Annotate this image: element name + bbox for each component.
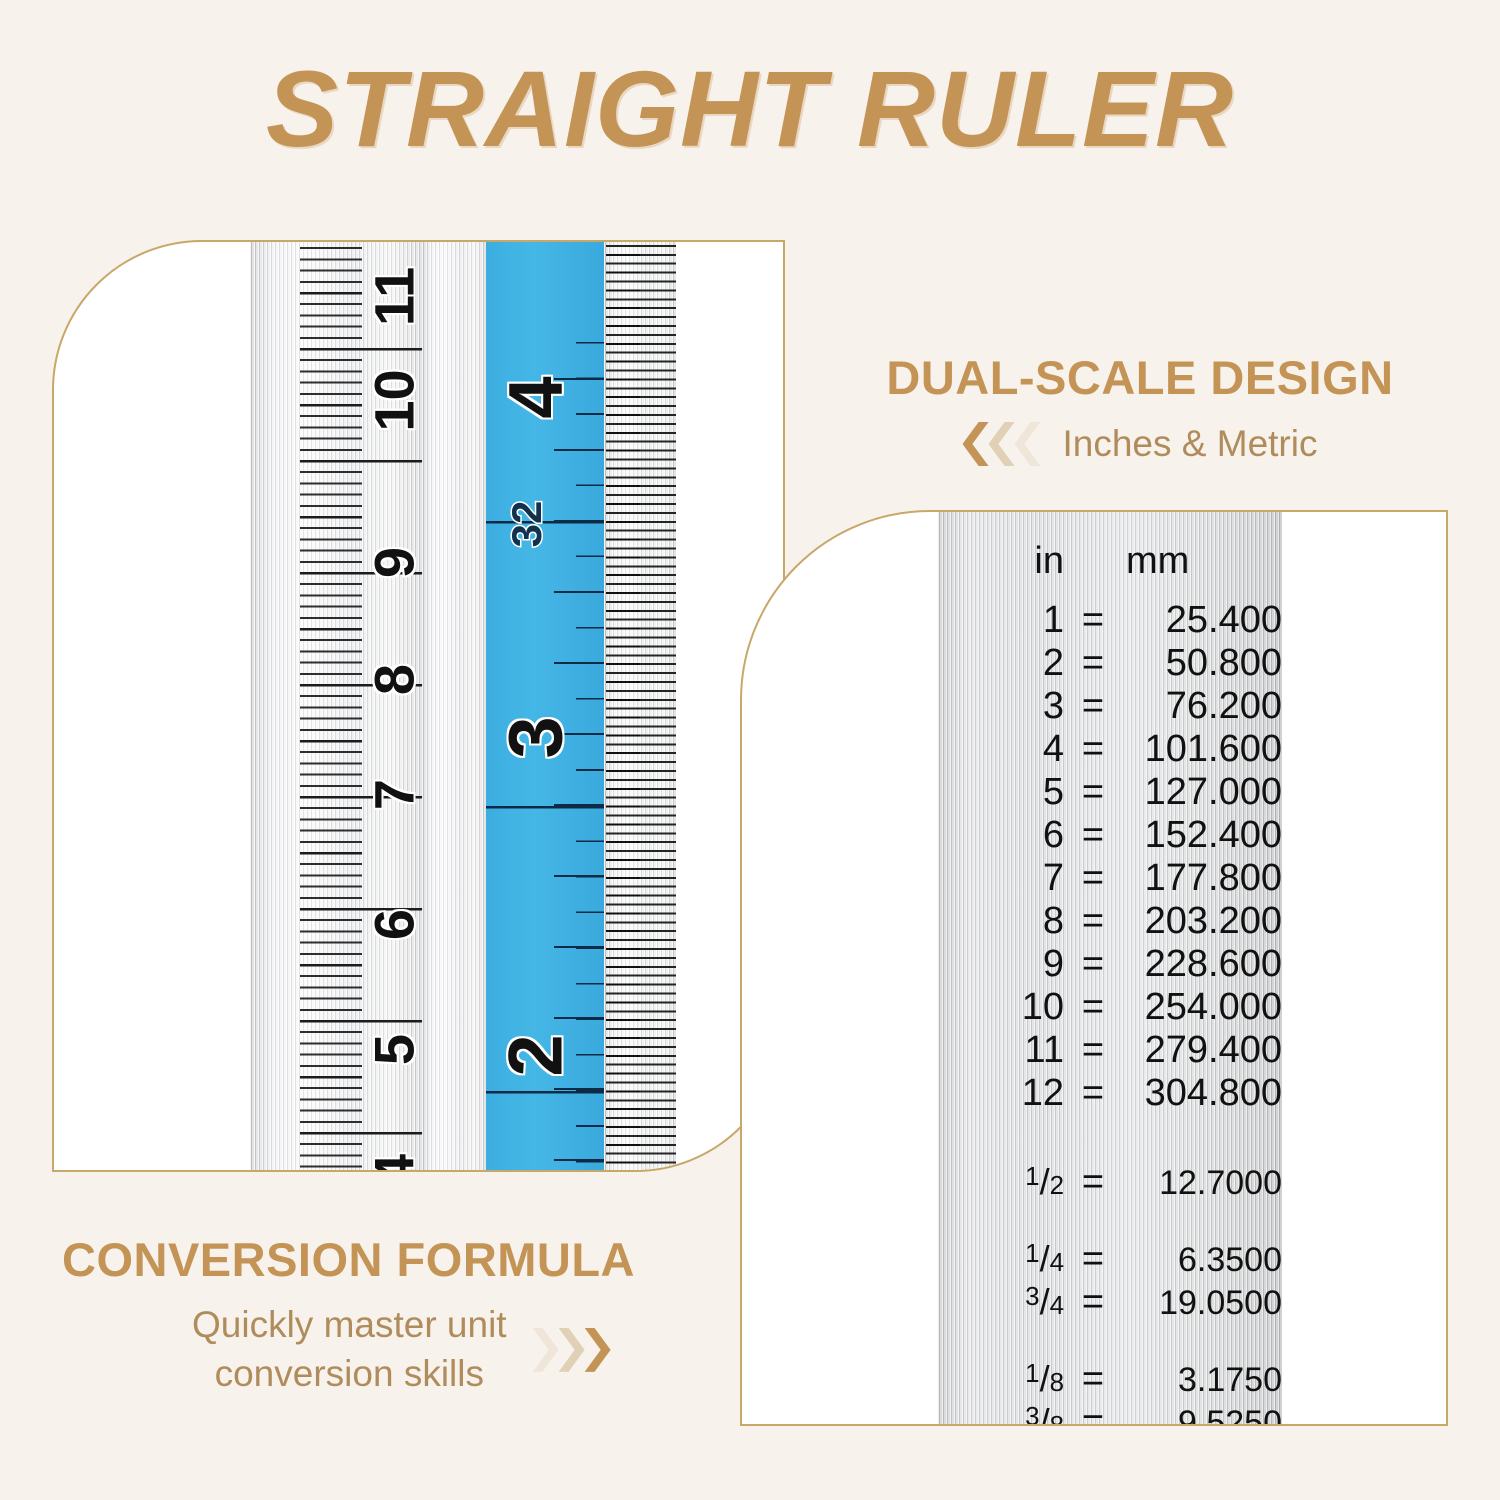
conversion-table-panel: in mm 1=25.4002=50.8003=76.2004=101.6005… [740,510,1448,1426]
table-cell-mm: 177.800 [1122,857,1282,900]
table-row: 1/2=12.7000 [938,1161,1282,1204]
ruler-inch-label-3: 3 [493,696,580,780]
table-cell-in: 9 [938,943,1064,986]
chevron-right-icon-3 [585,1328,611,1372]
table-cell-mm: 3.1750 [1122,1361,1282,1400]
conversion-subtitle-line-2: conversion skills [215,1353,484,1394]
ruler-inch-label-4: 4 [493,356,580,440]
table-cell-in: 3 [938,685,1064,728]
table-header-in: in [938,540,1064,583]
table-row: 8=203.200 [938,900,1282,943]
ruler-metric-label-8: 8 [362,640,427,720]
table-cell-equals: = [1064,599,1122,642]
table-row: 1=25.400 [938,599,1282,642]
table-row: 11=279.400 [938,1029,1282,1072]
table-row: 2=50.800 [938,642,1282,685]
table-row: 6=152.400 [938,814,1282,857]
metal-plate-background: in mm 1=25.4002=50.8003=76.2004=101.6005… [938,510,1282,1426]
table-cell-in: 5 [938,771,1064,814]
table-cell-equals: = [1064,1161,1122,1204]
ruler-half-centimeter-lines [300,292,362,1172]
table-cell-mm: 25.400 [1122,599,1282,642]
table-cell-in: 1 [938,599,1064,642]
ruler-inch-subdivision-label-32: 32 [503,489,551,559]
table-cell-mm: 101.600 [1122,728,1282,771]
table-row: 7=177.800 [938,857,1282,900]
page-title: STRAIGHT RULER [0,52,1500,165]
table-cell-equals: = [1064,685,1122,728]
table-row: 1/8=3.1750 [938,1358,1282,1401]
table-cell-mm: 50.800 [1122,642,1282,685]
table-cell-mm: 19.0500 [1122,1284,1282,1323]
table-row: 10=254.000 [938,986,1282,1029]
chevron-right-icon-2 [559,1328,585,1372]
chevron-left-icon-3 [1015,422,1041,466]
ruler-inch-label-2: 2 [493,1014,580,1098]
ruler-metric-label-4: 4 [362,1130,427,1173]
table-cell-mm: 12.7000 [1122,1164,1282,1203]
table-row: 3/8=9.5250 [938,1401,1282,1426]
chevron-left-group [963,422,1041,466]
chevron-left-icon-2 [989,422,1015,466]
table-cell-in: 2 [938,642,1064,685]
table-group-gap [938,1324,1282,1358]
conversion-formula-block: CONVERSION FORMULA Quickly master unit c… [62,1232,762,1399]
table-cell-in: 8 [938,900,1064,943]
table-cell-mm: 9.5250 [1122,1404,1282,1426]
chevron-right-group [533,1328,611,1372]
table-header-spacer [1064,540,1122,583]
chevron-right-icon-1 [533,1328,559,1372]
dual-scale-design-block: DUAL-SCALE DESIGN Inches & Metric [810,350,1470,466]
table-cell-equals: = [1064,857,1122,900]
table-cell-in: 11 [938,1029,1064,1072]
table-cell-in: 6 [938,814,1064,857]
table-cell-equals: = [1064,1281,1122,1324]
table-cell-mm: 203.200 [1122,900,1282,943]
table-cell-mm: 254.000 [1122,986,1282,1029]
table-cell-equals: = [1064,728,1122,771]
ruler-metric-label-9: 9 [362,523,427,603]
fraction-inch-rows: 1/2=12.70001/4=6.35003/4=19.05001/8=3.17… [938,1161,1282,1426]
table-cell-mm: 228.600 [1122,943,1282,986]
table-cell-mm: 152.400 [1122,814,1282,857]
table-cell-mm: 279.400 [1122,1029,1282,1072]
ruler-metric-label-7: 7 [362,755,427,835]
table-cell-equals: = [1064,943,1122,986]
chevron-left-icon-1 [963,422,989,466]
table-cell-equals: = [1064,1358,1122,1401]
table-row: 12=304.800 [938,1072,1282,1115]
table-cell-equals: = [1064,1401,1122,1426]
table-group-gap [938,1204,1282,1238]
ruler-middle-band [422,240,486,1172]
table-row: 3/4=19.0500 [938,1281,1282,1324]
table-cell-in: 4 [938,728,1064,771]
ruler-metric-label-10: 10 [362,361,427,441]
table-cell-mm: 76.200 [1122,685,1282,728]
table-row: 3=76.200 [938,685,1282,728]
table-row: 5=127.000 [938,771,1282,814]
table-cell-equals: = [1064,1072,1122,1115]
dual-scale-subtitle: Inches & Metric [1063,423,1318,465]
ruler-metric-label-5: 5 [362,1010,427,1090]
ruler-photograph: 11 10 9 8 7 6 5 4 4 3 2 32 [54,242,783,1170]
table-cell-in: 3/4 [938,1281,1064,1323]
table-row: 1/4=6.3500 [938,1238,1282,1281]
conversion-formula-subtitle: Quickly master unit conversion skills [192,1301,507,1399]
whole-inch-rows: 1=25.4002=50.8003=76.2004=101.6005=127.0… [938,599,1282,1115]
table-cell-equals: = [1064,771,1122,814]
ruler-metric-label-11: 11 [362,257,427,337]
table-cell-equals: = [1064,1238,1122,1281]
table-cell-in: 12 [938,1072,1064,1115]
conversion-formula-heading: CONVERSION FORMULA [62,1232,762,1287]
table-cell-in: 1/8 [938,1358,1064,1400]
table-cell-equals: = [1064,986,1122,1029]
conversion-subtitle-line-1: Quickly master unit [192,1304,507,1345]
table-cell-mm: 6.3500 [1122,1241,1282,1280]
table-cell-equals: = [1064,1029,1122,1072]
table-cell-in: 1/4 [938,1238,1064,1280]
ruler-image-panel: 11 10 9 8 7 6 5 4 4 3 2 32 [52,240,785,1172]
ruler-fine-ticks-right-secondary [606,240,640,1172]
dual-scale-heading: DUAL-SCALE DESIGN [810,350,1470,405]
table-cell-equals: = [1064,642,1122,685]
conversion-table: in mm 1=25.4002=50.8003=76.2004=101.6005… [938,510,1282,1426]
table-row: 9=228.600 [938,943,1282,986]
table-cell-in: 10 [938,986,1064,1029]
table-cell-equals: = [1064,900,1122,943]
table-cell-equals: = [1064,814,1122,857]
table-cell-in: 3/8 [938,1401,1064,1426]
table-cell-mm: 127.000 [1122,771,1282,814]
table-row: 4=101.600 [938,728,1282,771]
ruler-inch-fine-subdivision-lines [576,342,604,1172]
ruler-metric-label-6: 6 [362,885,427,965]
table-header-mm: mm [1122,540,1276,583]
table-cell-in: 1/2 [938,1161,1064,1203]
table-header-row: in mm [938,510,1282,583]
table-cell-mm: 304.800 [1122,1072,1282,1115]
table-cell-in: 7 [938,857,1064,900]
